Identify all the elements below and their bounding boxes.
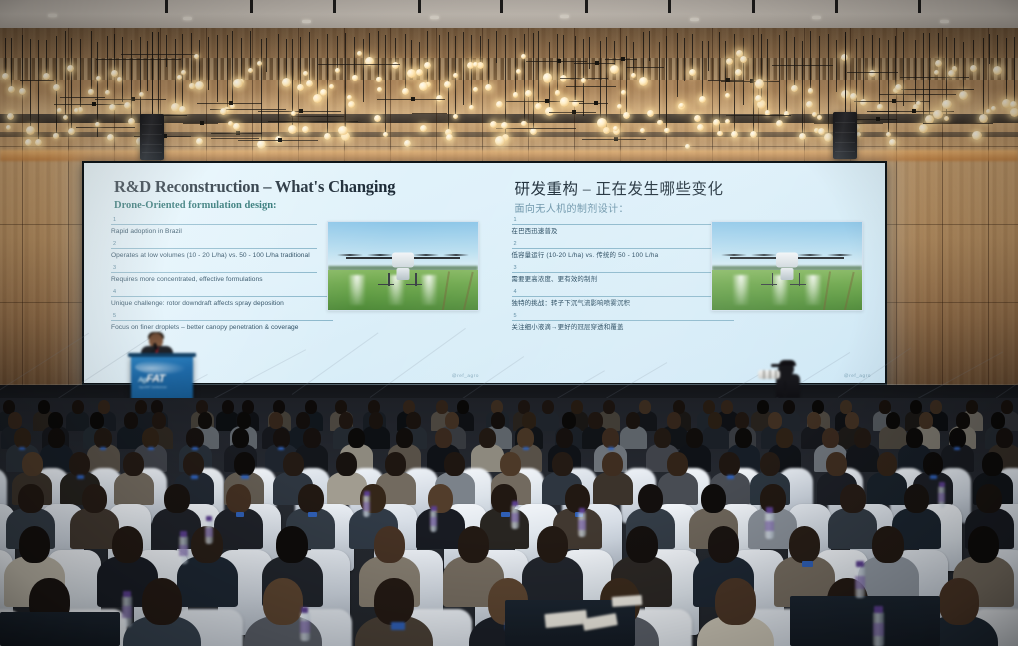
pendant-bulb xyxy=(713,119,720,126)
bottle-cap xyxy=(364,491,370,495)
pendant-rod xyxy=(606,37,607,131)
pendant-rod xyxy=(708,41,709,71)
audience-member-head xyxy=(183,452,204,476)
ceiling-rail xyxy=(165,0,168,13)
pendant-rod xyxy=(515,38,516,95)
audience-member-head xyxy=(872,526,904,563)
pendant-rod xyxy=(983,38,984,119)
audience-member-head xyxy=(956,412,970,429)
audience-member-head xyxy=(982,452,1003,476)
pendant-bulb xyxy=(919,124,928,133)
ceiling-rail xyxy=(668,0,671,13)
audience-member-head xyxy=(283,452,304,476)
slide-title-chinese: 研发重构 – 正在发生哪些变化 xyxy=(515,177,724,199)
audience-member-head xyxy=(124,412,138,429)
audience-member-head xyxy=(303,428,320,448)
audience-member-head xyxy=(226,484,252,513)
pendant-rod xyxy=(488,39,489,87)
audience-member-head xyxy=(396,428,413,448)
audience-member-head xyxy=(923,452,944,476)
pendant-bulb xyxy=(639,77,648,86)
list-item: 2 Operates at low volumes (10 - 20 L/ha)… xyxy=(111,241,339,261)
pendant-rod xyxy=(538,31,539,106)
audience-member-head xyxy=(996,428,1013,448)
pendant-rod xyxy=(819,36,820,118)
bottle-cap xyxy=(766,507,773,512)
pendant-bulb xyxy=(329,84,334,89)
pendant-bulb xyxy=(196,138,203,145)
audience-member-head xyxy=(760,452,781,476)
ceiling-rail xyxy=(500,0,503,13)
audience-member-head xyxy=(854,428,871,448)
pendant-rod xyxy=(419,42,420,72)
pendant-rod xyxy=(753,35,754,134)
audience-member-head xyxy=(638,484,664,513)
bottle-cap xyxy=(123,591,131,597)
water-bottle xyxy=(122,596,132,627)
line-array-speaker-left xyxy=(140,114,164,160)
pendant-node xyxy=(557,59,561,63)
pendant-node xyxy=(876,117,880,121)
bullet-text: Focus on finer droplets – better canopy … xyxy=(111,321,339,333)
ceiling-spotlight xyxy=(183,17,192,20)
audience-member-head xyxy=(305,400,317,414)
audience-member-head xyxy=(667,452,688,476)
pendant-bulb xyxy=(477,62,484,69)
pendant-node xyxy=(236,131,240,135)
pendant-bulb xyxy=(228,121,233,126)
list-item: 1 在巴西迅速普及 xyxy=(512,217,740,237)
audience-member-head xyxy=(991,412,1005,429)
list-item: 3 需要更高浓度、更有效的制剂 xyxy=(512,265,740,285)
pendant-rod xyxy=(122,37,123,101)
pendant-rod xyxy=(973,40,974,68)
pendant-node xyxy=(278,138,282,142)
audience-member-head xyxy=(517,428,534,448)
bottle-label xyxy=(300,621,310,632)
audience-member-head xyxy=(444,452,465,476)
pendant-rod xyxy=(131,40,132,122)
pendant-rod xyxy=(286,39,287,82)
audience-member-head xyxy=(522,412,536,429)
pendant-bulb xyxy=(521,121,527,127)
audience-member-head xyxy=(783,400,795,414)
audience-member-head xyxy=(807,412,821,429)
pendant-rod xyxy=(175,39,176,107)
water-bottle xyxy=(765,512,774,539)
pendant-bulb xyxy=(603,127,610,134)
pendant-bulb xyxy=(877,104,883,110)
audience-member-head xyxy=(552,452,573,476)
audience-member-head xyxy=(48,412,62,429)
pendant-bulb xyxy=(717,131,723,137)
pendant-bulb xyxy=(2,73,9,80)
bottle-label xyxy=(578,520,586,530)
audience-member-head xyxy=(222,400,234,414)
audience-member-torso xyxy=(114,472,154,506)
pendant-crossbar xyxy=(318,64,401,65)
pendant-bulb xyxy=(979,114,988,123)
pendant-rod xyxy=(719,32,720,133)
podium: AgFAT AgroFAT Conference xyxy=(131,356,193,400)
pendant-bulb xyxy=(806,101,813,108)
pendant-bulb xyxy=(755,95,762,102)
pendant-rod xyxy=(208,37,209,90)
pendant-rod xyxy=(828,34,829,137)
pendant-rod xyxy=(734,34,735,135)
pendant-bulb xyxy=(685,144,690,149)
pendant-crossbar xyxy=(847,72,898,73)
audience-member-head xyxy=(701,484,727,513)
bottle-label xyxy=(205,528,213,537)
pendant-crossbar xyxy=(566,86,616,87)
bullet-number: 5 xyxy=(512,313,734,321)
pendant-rod xyxy=(227,35,228,110)
bottle-cap xyxy=(874,606,883,613)
bullet-number: 1 xyxy=(111,217,317,225)
audience-member-head xyxy=(8,412,22,429)
audience-member-head xyxy=(721,400,733,414)
pendant-node xyxy=(594,101,598,105)
pendant-bulb xyxy=(53,133,59,139)
podium-swoosh-graphic xyxy=(135,360,189,374)
list-item: 5 关注细小液滴→更好的冠层穿透和覆盖 xyxy=(512,313,740,333)
bullet-text: 独特的挑战：转子下沉气流影响喷雾沉积 xyxy=(512,297,740,309)
podium-brand-name: FAT xyxy=(146,373,164,385)
pendant-rod xyxy=(810,31,811,91)
pendant-rod xyxy=(300,37,301,88)
pendant-rod xyxy=(232,31,233,106)
pendant-node xyxy=(595,61,599,65)
pendant-bulb xyxy=(53,84,60,91)
audience-member-head xyxy=(186,428,203,448)
slide-subtitle-english: Drone-Oriented formulation design: xyxy=(114,200,277,211)
attendee-badge xyxy=(192,447,198,450)
water-bottle xyxy=(855,566,865,598)
pendant-node xyxy=(92,102,96,106)
audience-member-head xyxy=(142,428,159,448)
pendant-bulb xyxy=(991,106,996,111)
bullet-text: 低容量运行 (10-20 L/ha) vs. 传统的 50 - 100 L/ha xyxy=(512,249,740,261)
water-bottle xyxy=(205,520,213,544)
pendant-rod xyxy=(524,34,525,123)
pendant-rod xyxy=(241,38,242,81)
pendant-bulb xyxy=(735,69,742,76)
pendant-rod xyxy=(480,36,481,66)
audience-member-torso xyxy=(620,426,648,449)
pendant-bulb xyxy=(282,78,291,87)
audience-member-head xyxy=(715,578,755,625)
pendant-rod xyxy=(600,41,601,116)
bullet-text: Requires more concentrated, effective fo… xyxy=(111,273,339,285)
audience-member-head xyxy=(708,526,740,563)
presentation-screen: R&D Reconstruction – What's Changing Dro… xyxy=(82,161,887,385)
pendant-rod xyxy=(626,36,627,115)
bullet-text: 在巴西迅速普及 xyxy=(512,225,740,237)
pendant-rod xyxy=(71,38,72,131)
audience-member-head xyxy=(19,526,51,563)
pendant-bulb xyxy=(107,134,114,141)
pendant-rod xyxy=(147,41,148,91)
pendant-rod xyxy=(309,32,310,84)
audience-member-head xyxy=(263,578,303,625)
pendant-bulb xyxy=(377,87,382,92)
audience-member-head xyxy=(22,452,43,476)
list-item: 2 低容量运行 (10-20 L/ha) vs. 传统的 50 - 100 L/… xyxy=(512,241,740,261)
audience-member-head xyxy=(904,484,930,513)
bottle-label xyxy=(855,576,865,588)
pendant-bulb xyxy=(970,65,977,72)
pendant-rod xyxy=(261,39,262,144)
pendant-rod xyxy=(278,34,279,139)
attendee-badge xyxy=(278,447,284,450)
drone-photo-english xyxy=(327,221,479,311)
pendant-bulb xyxy=(57,108,62,113)
audience-member-head xyxy=(18,484,44,513)
pendant-rod xyxy=(363,39,364,103)
audience-member-head xyxy=(369,412,383,429)
water-bottle xyxy=(578,512,586,537)
bottle-cap xyxy=(512,501,518,506)
audience-member-head xyxy=(48,428,65,448)
pendant-rod xyxy=(46,40,47,77)
attendee-badge xyxy=(608,447,614,450)
pendant-bulb xyxy=(404,140,411,147)
ceiling-spotlight xyxy=(560,15,569,18)
pendant-rod xyxy=(915,40,916,107)
bullet-number: 1 xyxy=(512,217,718,225)
pendant-bulb xyxy=(889,139,896,146)
pendant-rod xyxy=(1006,38,1007,103)
bottle-label xyxy=(363,502,370,511)
pendant-rod xyxy=(575,36,576,103)
pendant-bulb xyxy=(297,84,304,91)
pendant-node xyxy=(131,97,135,101)
pendant-rod xyxy=(217,35,218,102)
ceiling-rail xyxy=(752,0,755,13)
audience-member-head xyxy=(639,400,651,414)
attendee-badge xyxy=(100,447,106,450)
bullet-list-chinese: 1 在巴西迅速普及 2 低容量运行 (10-20 L/ha) vs. 传统的 5… xyxy=(512,217,740,337)
audience-member-head xyxy=(38,400,50,414)
audience-member-head xyxy=(237,412,251,429)
audience-member-head xyxy=(435,428,452,448)
audience-member-head xyxy=(500,452,521,476)
audience-member-head xyxy=(234,452,255,476)
pendant-crossbar xyxy=(121,54,196,55)
bottle-label xyxy=(938,493,945,502)
pendant-bulb xyxy=(444,81,451,88)
pendant-rod xyxy=(836,40,837,92)
pendant-rod xyxy=(191,33,192,86)
pendant-crossbar xyxy=(96,59,181,60)
pendant-node xyxy=(726,78,730,82)
audience-member-head xyxy=(910,400,922,414)
drone-photo-chinese xyxy=(711,221,863,311)
audience-member-head xyxy=(826,452,847,476)
pendant-bulb xyxy=(818,128,825,135)
pendant-node xyxy=(299,109,303,113)
audience-member-head xyxy=(112,526,144,563)
ceiling-rail xyxy=(418,0,421,13)
audience-member-head xyxy=(348,428,365,448)
pendant-bulb xyxy=(407,69,416,78)
monopod xyxy=(784,381,786,398)
pendant-bulb xyxy=(74,108,79,113)
audience-member-head xyxy=(565,484,591,513)
bottle-cap xyxy=(579,508,585,513)
audience-member-head xyxy=(542,400,554,414)
pendant-rod xyxy=(761,34,762,105)
audience-member-head xyxy=(385,452,406,476)
audience-member-torso xyxy=(702,426,730,449)
pendant-bulb xyxy=(416,69,423,76)
pendant-bulb xyxy=(755,79,765,89)
audience-member-head xyxy=(445,412,459,429)
pendant-rod xyxy=(11,38,12,89)
pendant-rod xyxy=(954,38,955,69)
pendant-rod xyxy=(354,37,355,78)
pendant-rod xyxy=(895,36,896,90)
audience-member-head xyxy=(588,412,602,429)
audience-member-head xyxy=(735,412,749,429)
audience-member-head xyxy=(760,484,786,513)
pendant-rod xyxy=(114,34,115,73)
ceiling-spotlight xyxy=(430,16,439,19)
pendant-bulb xyxy=(731,131,738,138)
list-item: 4 独特的挑战：转子下沉气流影响喷雾沉积 xyxy=(512,289,740,309)
wall-seam xyxy=(942,28,943,390)
pendant-bulb xyxy=(623,112,630,119)
pendant-bulb xyxy=(7,113,14,120)
attendee-badge xyxy=(930,475,937,479)
pendant-rod xyxy=(903,32,904,106)
pendant-node xyxy=(200,121,204,125)
bullet-number: 4 xyxy=(111,289,333,297)
pendant-bulb xyxy=(799,133,806,140)
audience-member-head xyxy=(877,452,898,476)
audience-member-head xyxy=(562,412,576,429)
audience-member-head xyxy=(886,412,900,429)
audience-member-head xyxy=(276,526,308,563)
pendant-crossbar xyxy=(76,127,135,128)
audience-member-head xyxy=(602,428,619,448)
pendant-bulb xyxy=(453,73,458,78)
pendant-rod xyxy=(989,34,990,64)
attendee-badge xyxy=(954,447,960,450)
pendant-rod xyxy=(557,34,558,93)
pendant-rod xyxy=(923,33,924,128)
pendant-bulb xyxy=(776,120,783,127)
pendant-bulb xyxy=(88,89,94,95)
pendant-rod xyxy=(794,37,795,88)
attendee-badge xyxy=(727,475,734,479)
slide-watermark-english: @ref_agro xyxy=(452,373,479,378)
attendee-badge xyxy=(241,475,248,479)
audience-member-head xyxy=(708,412,722,429)
wall-seam xyxy=(988,28,989,390)
audience-member-head xyxy=(602,452,623,476)
pendant-crossbar xyxy=(900,77,969,78)
audience-member-head xyxy=(776,428,793,448)
line-array-speaker-right xyxy=(833,112,857,159)
pendant-rod xyxy=(22,35,23,92)
pendant-rod xyxy=(684,38,685,82)
pendant-rod xyxy=(563,35,564,79)
pendant-rod xyxy=(158,32,159,119)
pendant-bulb xyxy=(109,104,116,111)
ceiling-spotlight xyxy=(48,14,57,17)
pendant-node xyxy=(411,97,415,101)
bullet-number: 3 xyxy=(111,265,317,273)
bullet-number: 4 xyxy=(512,289,734,297)
pendant-bulb xyxy=(613,126,618,131)
attendee-badge xyxy=(523,447,529,450)
pendant-bulb xyxy=(302,126,309,133)
pendant-bulb xyxy=(725,119,730,124)
pendant-rod xyxy=(463,32,464,105)
pendant-rod xyxy=(266,38,267,72)
pendant-bulb xyxy=(543,73,553,83)
bottle-label xyxy=(511,513,519,522)
pendant-rod xyxy=(666,36,667,130)
audience-member-head xyxy=(968,526,1000,563)
audience-member-head xyxy=(98,400,110,414)
ceiling-spotlight xyxy=(940,20,949,23)
audience-member-head xyxy=(906,428,923,448)
pendant-rod xyxy=(5,38,6,76)
pendant-rod xyxy=(677,33,678,97)
audience-member-head xyxy=(686,428,703,448)
bottle-cap xyxy=(939,482,945,486)
pendant-rod xyxy=(385,35,386,135)
audience-member-head xyxy=(840,484,866,513)
audience-member-head xyxy=(273,428,290,448)
pendant-bulb xyxy=(257,140,266,149)
pendant-bulb xyxy=(189,83,195,89)
pendant-bulb xyxy=(560,97,570,107)
audience-member-head xyxy=(626,526,658,563)
attendee-badge xyxy=(308,512,317,517)
audience-member-head xyxy=(789,526,821,563)
pendant-rod xyxy=(38,40,39,142)
water-bottle xyxy=(363,495,370,517)
pendant-rod xyxy=(199,40,200,85)
handout-paper xyxy=(612,595,643,607)
pendant-bulb xyxy=(495,136,505,146)
water-bottle xyxy=(179,536,188,564)
bottle-cap xyxy=(301,607,308,613)
audience-member-head xyxy=(232,428,249,448)
pendant-rod xyxy=(439,35,440,99)
audience-member-torso xyxy=(593,472,633,506)
audience-member-torso xyxy=(828,508,877,549)
audience-member-torso xyxy=(867,472,907,506)
pendant-rod xyxy=(743,38,744,105)
pendant-crossbar xyxy=(412,113,447,114)
audience-member-head xyxy=(822,428,839,448)
pendant-bulb xyxy=(610,65,619,74)
audience-member-head xyxy=(768,412,782,429)
pendant-bulb xyxy=(694,115,701,122)
audience-member-head xyxy=(537,526,569,563)
pendant-bulb xyxy=(35,139,42,146)
pendant-bulb xyxy=(621,90,626,95)
audience-member-head xyxy=(939,578,979,625)
pendant-rod xyxy=(702,41,703,100)
audience-member-head xyxy=(919,412,933,429)
audience-member-head xyxy=(436,400,448,414)
